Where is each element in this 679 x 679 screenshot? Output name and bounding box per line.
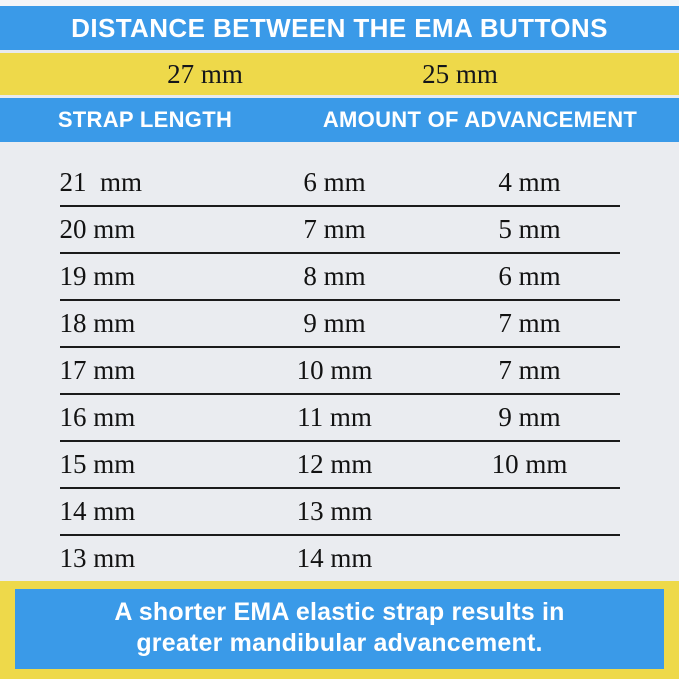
table-row: 14 mm 13 mm (60, 489, 620, 536)
cell-advancement-25mm: 6 mm (440, 254, 620, 299)
cell-advancement-25mm: 5 mm (440, 207, 620, 252)
cell-strap-length: 14 mm (60, 489, 240, 534)
cell-advancement-27mm: 12 mm (250, 442, 420, 487)
cell-advancement-25mm: 10 mm (440, 442, 620, 487)
data-table: 21 mm 6 mm 4 mm 20 mm 7 mm 5 mm 19 mm 8 … (0, 146, 679, 583)
table-row: 20 mm 7 mm 5 mm (60, 207, 620, 254)
cell-advancement-25mm: 4 mm (440, 160, 620, 205)
cell-strap-length: 16 mm (60, 395, 240, 440)
cell-advancement-25mm (440, 489, 620, 534)
footer-callout-inner: A shorter EMA elastic strap results in g… (15, 589, 664, 669)
column-header-strap-length: STRAP LENGTH (30, 98, 260, 142)
column-header-banner: STRAP LENGTH AMOUNT OF ADVANCEMENT (0, 98, 679, 142)
footer-line-2: greater mandibular advancement. (25, 628, 654, 659)
cell-advancement-27mm: 13 mm (250, 489, 420, 534)
cell-advancement-25mm: 7 mm (440, 348, 620, 393)
infographic-page: DISTANCE BETWEEN THE EMA BUTTONS 27 mm 2… (0, 0, 679, 679)
cell-strap-length: 13 mm (60, 536, 240, 581)
cell-strap-length: 15 mm (60, 442, 240, 487)
table-row: 21 mm 6 mm 4 mm (60, 160, 620, 207)
cell-strap-length: 18 mm (60, 301, 240, 346)
button-distance-27mm: 27 mm (120, 53, 290, 95)
button-distance-25mm: 25 mm (375, 53, 545, 95)
table-row: 16 mm 11 mm 9 mm (60, 395, 620, 442)
table-row: 19 mm 8 mm 6 mm (60, 254, 620, 301)
cell-advancement-27mm: 9 mm (250, 301, 420, 346)
cell-advancement-27mm: 11 mm (250, 395, 420, 440)
table-row: 18 mm 9 mm 7 mm (60, 301, 620, 348)
button-distance-banner: 27 mm 25 mm (0, 53, 679, 95)
cell-advancement-25mm (440, 536, 620, 581)
table-row: 15 mm 12 mm 10 mm (60, 442, 620, 489)
cell-advancement-27mm: 10 mm (250, 348, 420, 393)
table-row: 13 mm 14 mm (60, 536, 620, 583)
cell-advancement-27mm: 14 mm (250, 536, 420, 581)
cell-strap-length: 21 mm (60, 160, 240, 205)
footer-line-1: A shorter EMA elastic strap results in (25, 597, 654, 628)
cell-advancement-27mm: 8 mm (250, 254, 420, 299)
cell-advancement-25mm: 7 mm (440, 301, 620, 346)
cell-advancement-27mm: 6 mm (250, 160, 420, 205)
title-banner: DISTANCE BETWEEN THE EMA BUTTONS (0, 6, 679, 50)
cell-advancement-27mm: 7 mm (250, 207, 420, 252)
cell-strap-length: 19 mm (60, 254, 240, 299)
cell-strap-length: 20 mm (60, 207, 240, 252)
column-header-amount-of-advancement: AMOUNT OF ADVANCEMENT (290, 98, 670, 142)
cell-advancement-25mm: 9 mm (440, 395, 620, 440)
table-row: 17 mm 10 mm 7 mm (60, 348, 620, 395)
page-title: DISTANCE BETWEEN THE EMA BUTTONS (71, 13, 608, 44)
cell-strap-length: 17 mm (60, 348, 240, 393)
footer-callout: A shorter EMA elastic strap results in g… (0, 581, 679, 679)
